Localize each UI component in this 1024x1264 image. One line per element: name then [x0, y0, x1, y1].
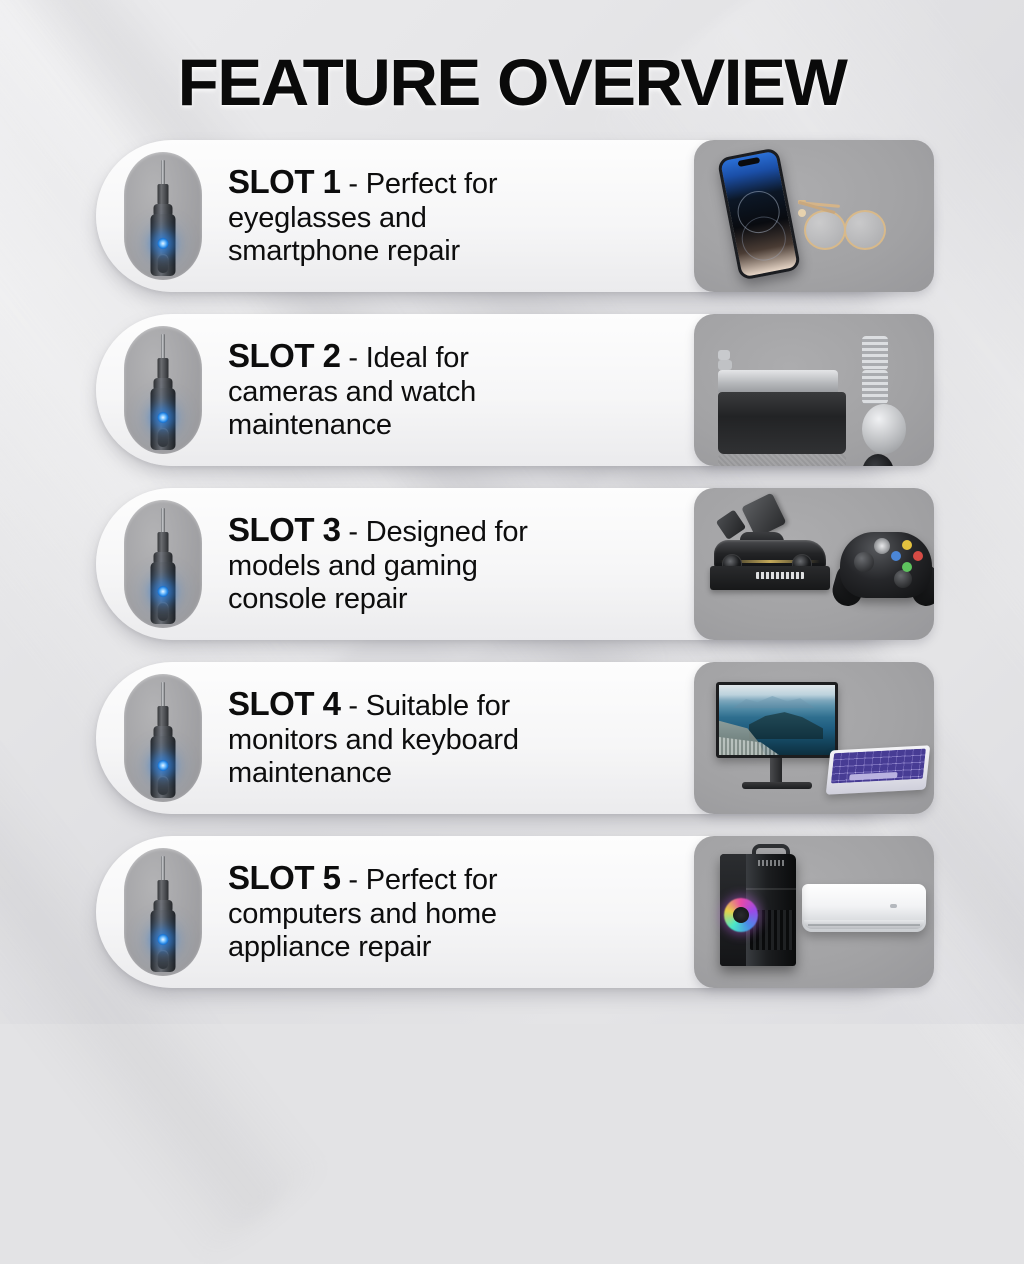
power-button-icon: [158, 254, 169, 273]
camera-and-wristwatch-photo: [694, 314, 934, 466]
controller-face-buttons: [890, 538, 924, 572]
controller-button-b: [913, 551, 923, 561]
screen-headland: [749, 711, 823, 739]
phone-notch: [738, 157, 761, 167]
led-indicator-icon: [158, 760, 169, 771]
screwdriver-bit-icon: [161, 682, 165, 708]
camera-leather-texture: [718, 454, 846, 466]
screwdriver-icon: [124, 326, 202, 454]
screwdriver-icon: [124, 500, 202, 628]
watch-band: [862, 336, 888, 370]
camera-top-plate: [718, 370, 838, 392]
controller-guide-button: [874, 538, 890, 554]
eyeglass-lens-right: [844, 210, 886, 250]
feature-list: SLOT 1 - Perfect for eyeglasses and smar…: [0, 140, 1024, 1010]
feature-row-slot-5: SLOT 5 - Perfect for computers and home …: [96, 836, 928, 988]
smartphone-and-eyeglasses-photo: [694, 140, 934, 292]
controller-button-a: [902, 562, 912, 572]
led-indicator-icon: [158, 412, 169, 423]
feature-text: SLOT 4 - Suitable for monitors and keybo…: [202, 685, 592, 792]
air-conditioner-louver: [808, 924, 920, 926]
eyeglass-tip: [798, 209, 806, 217]
slot-label: SLOT 4: [228, 685, 341, 722]
controller-button-y: [902, 540, 912, 550]
power-button-icon: [158, 776, 169, 795]
monitor-stand-base: [742, 782, 812, 789]
slot-label: SLOT 1: [228, 163, 341, 200]
power-button-icon: [158, 950, 169, 969]
monitor-image: [716, 682, 838, 758]
slot-label: SLOT 2: [228, 337, 341, 374]
watch-case: [862, 404, 906, 454]
model-car-and-game-controller-photo: [694, 488, 934, 640]
power-button-icon: [158, 602, 169, 621]
feature-text: SLOT 5 - Perfect for computers and home …: [202, 859, 592, 966]
camera-body: [718, 392, 846, 454]
screwdriver-bit-icon: [161, 856, 165, 882]
camera-dial: [718, 350, 730, 360]
keyboard-image: [826, 745, 931, 795]
feature-row-slot-4: SLOT 4 - Suitable for monitors and keybo…: [96, 662, 928, 814]
feature-text: SLOT 2 - Ideal for cameras and watch mai…: [202, 337, 592, 444]
screwdriver-icon: [124, 152, 202, 280]
display-base-label: [756, 572, 804, 579]
feature-text: SLOT 1 - Perfect for eyeglasses and smar…: [202, 163, 592, 270]
monitor-screen: [719, 685, 835, 755]
led-indicator-icon: [158, 586, 169, 597]
air-conditioner-display: [890, 904, 897, 908]
power-button-icon: [158, 428, 169, 447]
feature-text: SLOT 3 - Designed for models and gaming …: [202, 511, 592, 618]
slot-label: SLOT 3: [228, 511, 341, 548]
screwdriver-neck-icon: [158, 184, 169, 206]
screwdriver-neck-icon: [158, 880, 169, 902]
watch-band: [862, 370, 888, 404]
screwdriver-icon: [124, 848, 202, 976]
screwdriver-neck-icon: [158, 358, 169, 380]
screwdriver-neck-icon: [158, 706, 169, 728]
pc-tower-seam: [746, 888, 796, 890]
monitor-stand-neck: [770, 758, 782, 784]
screen-mountains: [733, 694, 815, 708]
rgb-fan-hub: [733, 907, 749, 923]
led-indicator-icon: [158, 238, 169, 249]
led-indicator-icon: [158, 934, 169, 945]
pc-tower-brand-label: [758, 860, 786, 866]
screwdriver-bit-icon: [161, 334, 165, 360]
screwdriver-bit-icon: [161, 508, 165, 534]
watch-dial: [862, 454, 894, 466]
monitor-and-keyboard-photo: [694, 662, 934, 814]
pc-tower-and-air-conditioner-photo: [694, 836, 934, 988]
feature-row-slot-1: SLOT 1 - Perfect for eyeglasses and smar…: [96, 140, 928, 292]
feature-row-slot-3: SLOT 3 - Designed for models and gaming …: [96, 488, 928, 640]
slot-label: SLOT 5: [228, 859, 341, 896]
camera-dial: [718, 360, 732, 370]
camera-image: [718, 350, 846, 432]
feature-row-slot-2: SLOT 2 - Ideal for cameras and watch mai…: [96, 314, 928, 466]
screwdriver-icon: [124, 674, 202, 802]
eyeglass-lens-left: [804, 210, 846, 250]
controller-thumbstick: [894, 570, 912, 588]
controller-thumbstick: [854, 552, 874, 572]
eyeglasses-image: [798, 200, 926, 252]
wristwatch-image: [862, 336, 910, 446]
screwdriver-bit-icon: [161, 160, 165, 186]
smartphone-image: [717, 147, 802, 281]
screwdriver-neck-icon: [158, 532, 169, 554]
controller-button-x: [891, 551, 901, 561]
page-title: FEATURE OVERVIEW: [0, 44, 1024, 120]
